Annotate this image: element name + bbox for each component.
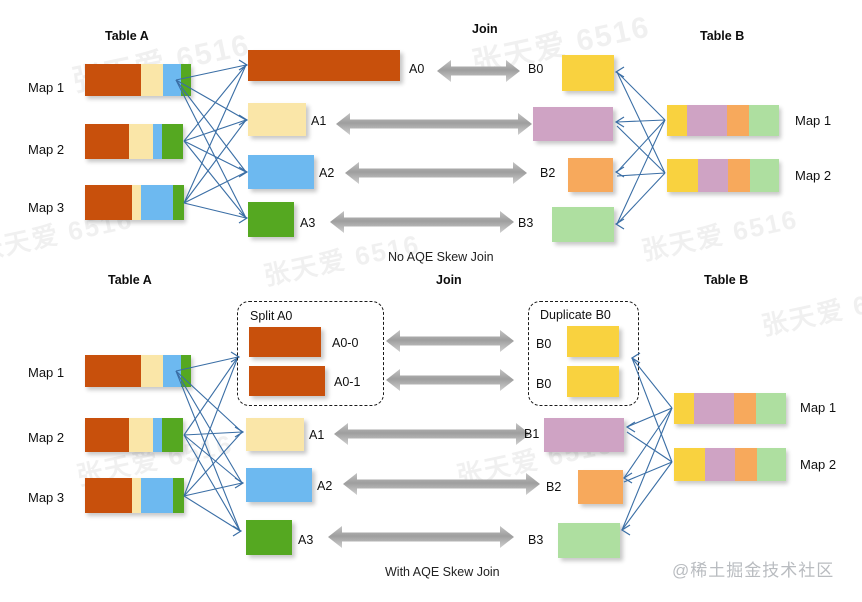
segment-orange-light <box>734 393 756 424</box>
segment-blue <box>163 64 181 96</box>
bottom-b-map-bar-1 <box>674 393 786 424</box>
segment-green <box>162 124 183 159</box>
bottom-partition-b2-label: B2 <box>546 480 561 494</box>
watermark: 张天爱 6516 <box>758 274 862 343</box>
top-partition-b0 <box>562 55 614 91</box>
top-partition-a3 <box>248 202 294 237</box>
segment-orange-light <box>735 448 757 481</box>
bottom-a-map-label-3: Map 3 <box>28 490 64 505</box>
diagram-canvas: 张天爱 6516 张天爱 6516 张天爱 6516 张天爱 6516 张天爱 … <box>0 0 862 602</box>
bottom-partition-b1-label: B1 <box>524 427 539 441</box>
segment-green <box>181 64 191 96</box>
top-header-table-a: Table A <box>105 29 149 43</box>
segment-blue <box>153 124 162 159</box>
segment-yellow <box>141 355 163 387</box>
top-partition-b3 <box>552 207 614 242</box>
top-partition-b1 <box>533 107 613 141</box>
segment-yellow <box>132 478 141 513</box>
segment-yellow <box>132 185 141 220</box>
arrow-a1-b1 <box>334 423 530 445</box>
bottom-a-map-label-2: Map 2 <box>28 430 64 445</box>
segment-yellow <box>129 124 153 159</box>
top-caption: No AQE Skew Join <box>388 250 494 264</box>
top-b-map-label-1: Map 1 <box>795 113 831 128</box>
bottom-header-join: Join <box>436 273 462 287</box>
bottom-partition-b3-label: B3 <box>528 533 543 547</box>
bottom-partition-a0-1-label: A0-1 <box>334 375 360 389</box>
segment-green-light <box>757 448 786 481</box>
bottom-caption: With AQE Skew Join <box>385 565 500 579</box>
top-partition-b0-label: B0 <box>528 62 543 76</box>
top-b-map-bar-2 <box>667 159 779 192</box>
top-partition-a2 <box>248 155 314 189</box>
top-a-map-bar-1 <box>85 64 191 96</box>
arrow-a2-b2 <box>345 162 527 184</box>
segment-gold <box>674 448 705 481</box>
segment-orange-light <box>727 105 749 136</box>
bottom-partition-a1-label: A1 <box>309 428 324 442</box>
segment-orange <box>85 64 141 96</box>
split-a0-title: Split A0 <box>250 309 292 323</box>
arrow-a3-b3 <box>330 211 514 233</box>
bottom-partition-a3-label: A3 <box>298 533 313 547</box>
arrow-a2-b2 <box>343 473 540 495</box>
top-partition-a1-label: A1 <box>311 114 326 128</box>
bottom-partition-a3 <box>246 520 292 555</box>
top-a-map-bar-3 <box>85 185 184 220</box>
top-partition-b2-label: B2 <box>540 166 555 180</box>
segment-orange-light <box>728 159 750 192</box>
bottom-partition-a0-0-label: A0-0 <box>332 336 358 350</box>
bottom-partition-b0-b-label: B0 <box>536 377 551 391</box>
top-partition-b2 <box>568 158 613 192</box>
segment-mauve <box>694 393 734 424</box>
duplicate-b0-title: Duplicate B0 <box>540 308 611 322</box>
top-a-map-label-2: Map 2 <box>28 142 64 157</box>
top-b-map-label-2: Map 2 <box>795 168 831 183</box>
arrow-a01-b0 <box>386 369 514 391</box>
top-partition-b3-label: B3 <box>518 216 533 230</box>
top-header-join: Join <box>472 22 498 36</box>
bottom-header-table-a: Table A <box>108 273 152 287</box>
bottom-header-table-b: Table B <box>704 273 748 287</box>
top-partition-a1 <box>248 103 306 136</box>
bottom-partition-a0-1 <box>249 366 325 396</box>
segment-mauve <box>705 448 735 481</box>
bottom-partition-b0-a-label: B0 <box>536 337 551 351</box>
segment-green-light <box>756 393 786 424</box>
arrow-a00-b0 <box>386 330 514 352</box>
watermark: 张天爱 6516 <box>638 199 801 268</box>
segment-mauve <box>687 105 727 136</box>
arrow-a0-b0 <box>437 60 520 82</box>
segment-gold <box>674 393 694 424</box>
segment-blue <box>141 185 173 220</box>
bottom-partition-a1 <box>246 418 304 451</box>
segment-orange <box>85 355 141 387</box>
bottom-a-map-bar-3 <box>85 478 184 513</box>
bottom-a-map-label-1: Map 1 <box>28 365 64 380</box>
bottom-partition-a2-label: A2 <box>317 479 332 493</box>
arrow-a3-b3 <box>328 526 514 548</box>
segment-yellow <box>141 64 163 96</box>
bottom-partition-b3 <box>558 523 620 558</box>
arrow-a1-b1 <box>336 113 532 135</box>
segment-orange <box>85 478 132 513</box>
segment-orange <box>85 124 129 159</box>
top-partition-a0-label: A0 <box>409 62 424 76</box>
bottom-partition-b2 <box>578 470 623 504</box>
bottom-a-map-bar-2 <box>85 418 183 452</box>
segment-green-light <box>750 159 779 192</box>
top-partition-a2-label: A2 <box>319 166 334 180</box>
bottom-b-map-label-2: Map 2 <box>800 457 836 472</box>
top-partition-a3-label: A3 <box>300 216 315 230</box>
top-a-map-label-3: Map 3 <box>28 200 64 215</box>
bottom-partition-a2 <box>246 468 312 502</box>
top-a-map-bar-2 <box>85 124 183 159</box>
bottom-partition-b0-b <box>567 366 619 397</box>
segment-green <box>162 418 183 452</box>
top-header-table-b: Table B <box>700 29 744 43</box>
segment-orange <box>85 185 132 220</box>
watermark: 张天爱 6516 <box>467 2 653 83</box>
top-b-map-bar-1 <box>667 105 779 136</box>
top-a-map-label-1: Map 1 <box>28 80 64 95</box>
segment-blue <box>153 418 162 452</box>
segment-green <box>173 478 184 513</box>
segment-orange <box>85 418 129 452</box>
segment-gold <box>667 105 687 136</box>
bottom-b-map-bar-2 <box>674 448 786 481</box>
segment-green <box>173 185 184 220</box>
bottom-partition-b0-a <box>567 326 619 357</box>
segment-green-light <box>749 105 779 136</box>
brand-watermark: @稀土掘金技术社区 <box>672 556 834 581</box>
bottom-a-map-bar-1 <box>85 355 191 387</box>
segment-mauve <box>698 159 728 192</box>
segment-blue <box>141 478 173 513</box>
bottom-partition-b1 <box>544 418 624 452</box>
segment-gold <box>667 159 698 192</box>
segment-green <box>181 355 191 387</box>
segment-yellow <box>129 418 153 452</box>
segment-blue <box>163 355 181 387</box>
bottom-partition-a0-0 <box>249 327 321 357</box>
top-partition-a0 <box>248 50 400 81</box>
bottom-b-map-label-1: Map 1 <box>800 400 836 415</box>
